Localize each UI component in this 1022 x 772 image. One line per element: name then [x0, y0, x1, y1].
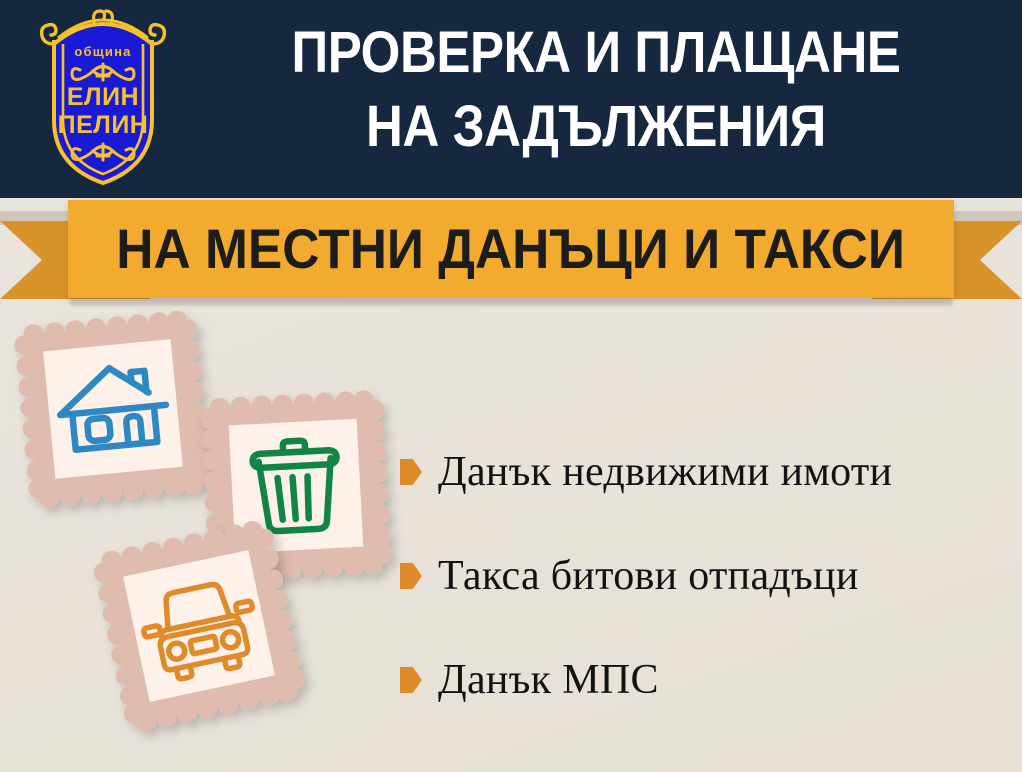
list-item[interactable]: Данък МПС [400, 628, 1020, 732]
logo-small-text: община [74, 44, 131, 59]
logo-main-text-1: ЕЛИН [67, 83, 139, 111]
ribbon-label: НА МЕСТНИ ДАНЪЦИ И ТАКСИ [117, 200, 906, 298]
list-item-label: Такса битови отпадъци [438, 552, 859, 600]
ribbon-shadow [70, 298, 952, 306]
arrow-bullet-icon [400, 459, 422, 485]
page-title: ПРОВЕРКА И ПЛАЩАНЕ НА ЗАДЪЛЖЕНИЯ [235, 16, 957, 164]
list-item[interactable]: Такса битови отпадъци [400, 524, 1020, 628]
logo-main-text-2: ПЕЛИН [58, 111, 149, 139]
list-item-label: Данък МПС [438, 656, 659, 704]
list-item[interactable]: Данък недвижими имоти [400, 420, 1020, 524]
municipality-logo: община ЕЛИН ПЕЛИН [28, 8, 178, 188]
arrow-bullet-icon [400, 563, 422, 589]
arrow-bullet-icon [400, 667, 422, 693]
ribbon-banner: НА МЕСТНИ ДАНЪЦИ И ТАКСИ [0, 200, 1022, 300]
tax-type-list: Данък недвижими имоти Такса битови отпад… [400, 420, 1020, 732]
ribbon-label-wrap: НА МЕСТНИ ДАНЪЦИ И ТАКСИ [68, 200, 954, 298]
poster-root: община ЕЛИН ПЕЛИН ПРОВЕРКА И ПЛАЩАНЕ НА … [0, 0, 1022, 772]
list-item-label: Данък недвижими имоти [438, 448, 892, 496]
car-stamp [91, 518, 307, 734]
house-stamp [14, 310, 213, 509]
